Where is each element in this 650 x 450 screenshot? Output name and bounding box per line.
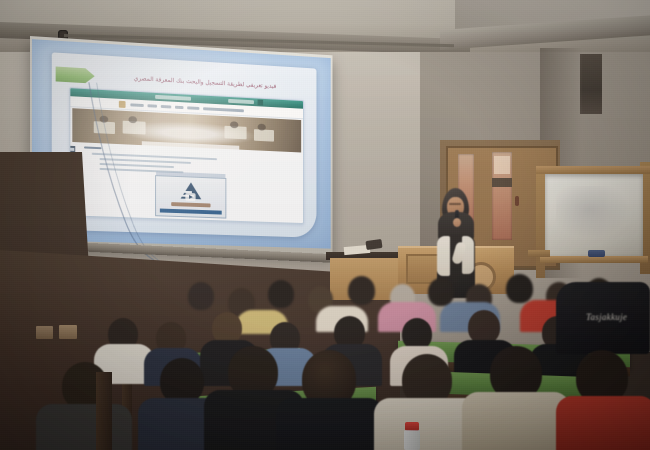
door-glass-mullion — [492, 178, 512, 187]
bench-back — [96, 372, 112, 450]
lecture-hall-photo: فيديو تعريفي لطريقة التسجيل والبحث بنك ا… — [0, 0, 650, 450]
presenter-sleeve-right — [462, 236, 474, 274]
presenter-sleeve-left — [437, 236, 450, 276]
whiteboard-smudge — [556, 186, 630, 238]
green-arrow-icon — [56, 67, 95, 84]
presenter-hand — [453, 218, 461, 227]
topbar-menu-icon — [258, 100, 263, 106]
topbar-button-right — [228, 99, 254, 104]
bottle-body — [404, 430, 420, 450]
wall-niche — [580, 54, 602, 114]
whiteboard-eraser[interactable] — [588, 250, 605, 257]
whiteboard-top-rail — [536, 166, 650, 174]
door-glass-highlight — [494, 156, 510, 174]
tshirt-print-text: Tasjakkuje — [586, 312, 650, 324]
whiteboard-side-shelf — [528, 250, 550, 257]
water-bottle-red-cap — [404, 422, 420, 450]
door-handle[interactable] — [515, 196, 519, 206]
hanging-cable — [83, 82, 197, 263]
whiteboard-tray — [540, 256, 648, 263]
presenter-brow — [449, 203, 461, 205]
